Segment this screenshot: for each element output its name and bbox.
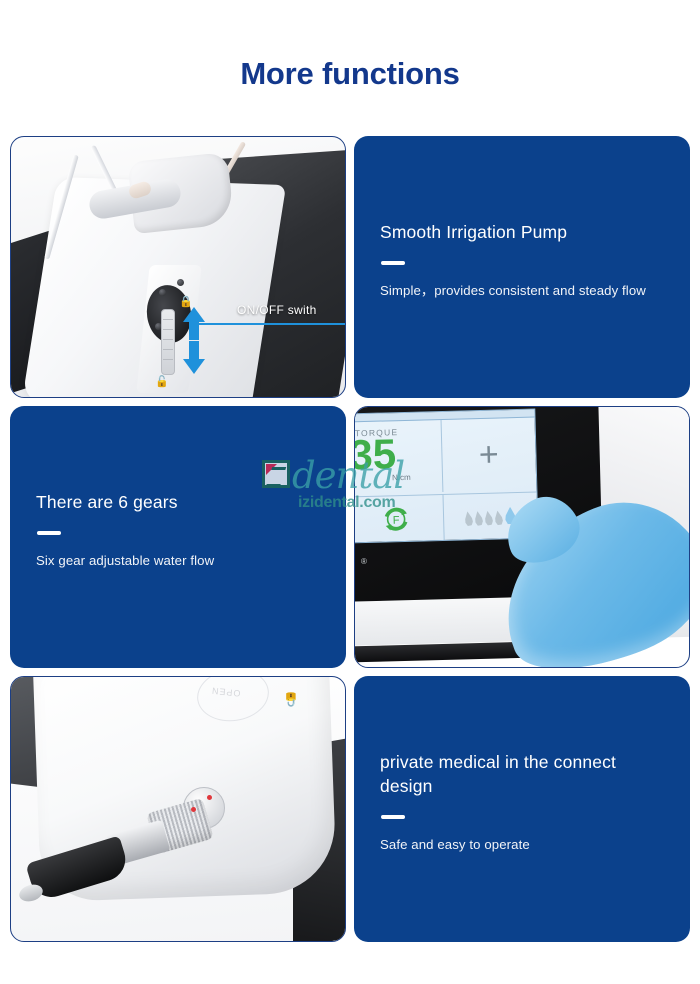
divider-dash [381, 815, 405, 819]
feature-row-1: 🔒 🔓 ON/OFF swith Smooth Irrigation Pump … [10, 136, 690, 398]
feature-row-2: There are 6 gears Six gear adjustable wa… [10, 406, 690, 668]
torque-increase-button[interactable]: + [441, 418, 536, 492]
lcd-row-torque: TORQUE 35 N.cm + [354, 418, 536, 495]
photo-torque-screen: TORQUE 35 N.cm + [354, 406, 690, 668]
callout-label-onoff-switch: ON/OFF swith [237, 303, 317, 317]
arrow-down-icon [183, 359, 205, 374]
divider-dash [37, 531, 61, 535]
feature-heading: private medical in the connect design [380, 750, 664, 798]
feature-body: Six gear adjustable water flow [36, 551, 320, 571]
feature-row-3: OPEN 🔓 private medical in the connect de… [10, 676, 690, 942]
feature-heading: Smooth Irrigation Pump [380, 220, 664, 244]
svg-text:F: F [392, 514, 399, 526]
photo-connector: OPEN 🔓 [10, 676, 346, 942]
water-drop-gauge [464, 507, 516, 526]
arrow-up-icon [183, 307, 205, 322]
divider-dash [381, 261, 405, 265]
water-drop-icon [463, 510, 474, 526]
feature-card-irrigation-pump: Smooth Irrigation Pump Simple，provides c… [354, 136, 690, 398]
registered-trademark-mark: ® [361, 557, 367, 566]
feature-grid: 🔒 🔓 ON/OFF swith Smooth Irrigation Pump … [10, 136, 690, 942]
callout-leader-line [193, 323, 345, 325]
alignment-dot-icon [191, 807, 196, 812]
forward-reverse-button[interactable]: F [354, 495, 444, 542]
rotation-direction-icon: F [380, 503, 411, 534]
alignment-dot-icon [207, 795, 212, 800]
photo-irrigation-pump: 🔒 🔓 ON/OFF swith [10, 136, 346, 398]
page-title: More functions [0, 0, 700, 89]
torque-value: 35 [354, 433, 397, 476]
product-feature-page: More functions [0, 0, 700, 984]
screw-icon [177, 279, 184, 286]
lock-open-icon: 🔓 [283, 691, 299, 707]
plus-icon: + [478, 438, 499, 473]
feature-card-six-gears: There are 6 gears Six gear adjustable wa… [10, 406, 346, 668]
feature-body: Safe and easy to operate [380, 835, 664, 855]
water-drop-icon [483, 510, 494, 526]
feature-heading: There are 6 gears [36, 490, 320, 514]
water-drop-icon [473, 510, 484, 526]
feature-body: Simple，provides consistent and steady fl… [380, 281, 664, 301]
feature-card-connect-design: private medical in the connect design Sa… [354, 676, 690, 942]
torque-readout: TORQUE 35 N.cm [354, 420, 443, 494]
lock-open-icon: 🔓 [155, 375, 169, 388]
water-drop-icon [493, 509, 504, 525]
screw-icon [159, 289, 166, 296]
onoff-slider-track[interactable] [161, 309, 175, 375]
torque-unit: N.cm [392, 473, 411, 482]
